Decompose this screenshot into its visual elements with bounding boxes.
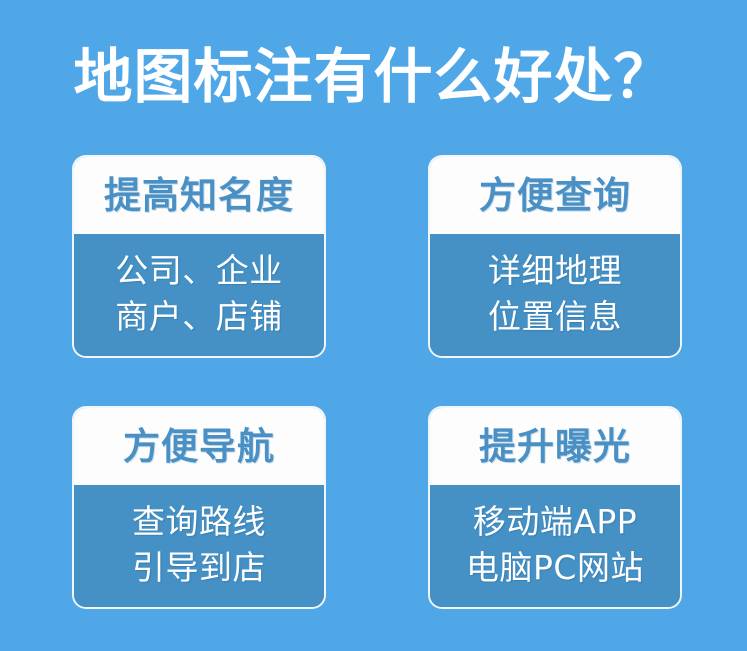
card-title: 提升曝光 xyxy=(479,427,631,467)
card-title: 方便导航 xyxy=(123,427,275,467)
card-header: 提升曝光 xyxy=(430,408,680,485)
card-body-line-1: 查询路线 xyxy=(132,499,266,545)
card-header: 方便查询 xyxy=(430,157,680,234)
benefit-card-easy-navigation[interactable]: 方便导航 查询路线 引导到店 xyxy=(72,406,326,609)
benefit-card-more-exposure[interactable]: 提升曝光 移动端APP 电脑PC网站 xyxy=(428,406,682,609)
card-body-line-1: 公司、企业 xyxy=(115,248,283,294)
card-body: 详细地理 位置信息 xyxy=(430,234,680,356)
page-title: 地图标注有什么好处？ xyxy=(0,44,747,110)
card-header: 方便导航 xyxy=(74,408,324,485)
card-body-line-2: 引导到店 xyxy=(132,545,266,591)
card-body-line-2: 位置信息 xyxy=(488,294,622,340)
benefit-card-brand-awareness[interactable]: 提高知名度 公司、企业 商户、店铺 xyxy=(72,155,326,358)
card-title: 提高知名度 xyxy=(104,176,294,216)
card-body-line-2: 电脑PC网站 xyxy=(466,545,644,591)
card-body-line-1: 详细地理 xyxy=(488,248,622,294)
card-body: 查询路线 引导到店 xyxy=(74,485,324,607)
benefit-card-easy-search[interactable]: 方便查询 详细地理 位置信息 xyxy=(428,155,682,358)
card-body-line-1: 移动端APP xyxy=(473,499,637,545)
card-title: 方便查询 xyxy=(479,176,631,216)
card-body-line-2: 商户、店铺 xyxy=(115,294,283,340)
card-body: 公司、企业 商户、店铺 xyxy=(74,234,324,356)
card-body: 移动端APP 电脑PC网站 xyxy=(430,485,680,607)
poster-canvas: 地图标注有什么好处？ 提高知名度 公司、企业 商户、店铺 方便查询 详细地理 位… xyxy=(0,0,747,651)
benefit-card-grid: 提高知名度 公司、企业 商户、店铺 方便查询 详细地理 位置信息 方便导航 查询… xyxy=(72,155,682,611)
card-header: 提高知名度 xyxy=(74,157,324,234)
